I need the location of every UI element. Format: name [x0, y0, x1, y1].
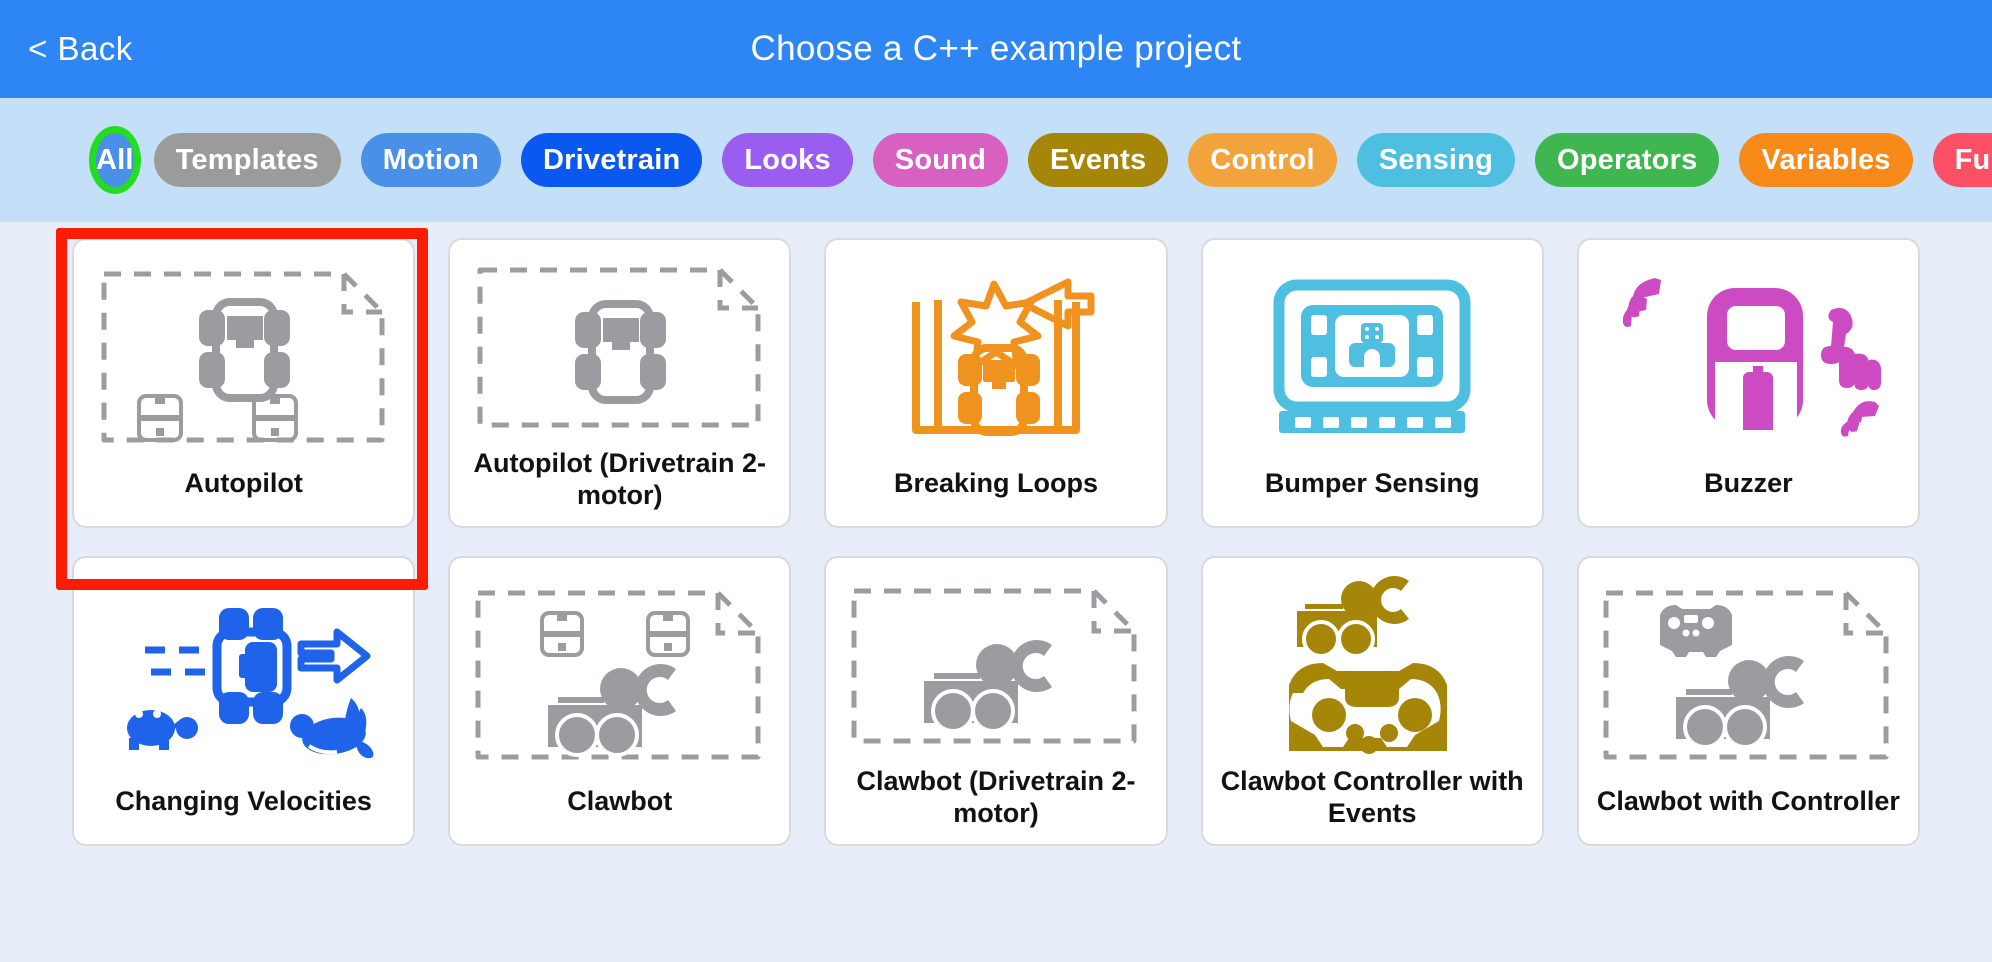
filter-pill-label: Events [1050, 144, 1146, 177]
filter-pill-label: Drivetrain [543, 144, 680, 177]
filter-pill-looks[interactable]: Looks [722, 133, 852, 187]
project-grid: Autopilot [72, 238, 1920, 846]
project-card-clawbot[interactable]: Clawbot [448, 556, 791, 846]
category-filter-bar: All Templates Motion Drivetrain Looks So… [0, 98, 1992, 222]
project-card-label: Autopilot [74, 468, 413, 526]
buzzer-icon [1579, 240, 1918, 468]
filter-pill-label: Templates [176, 144, 319, 177]
project-card-label: Changing Velocities [74, 786, 413, 844]
project-card-autopilot-drivetrain-2-motor[interactable]: Autopilot (Drivetrain 2-motor) [448, 238, 791, 528]
filter-pill-label: Variables [1761, 144, 1890, 177]
project-card-label: Buzzer [1579, 468, 1918, 526]
back-button[interactable]: < Back [18, 24, 143, 74]
filter-pill-motion[interactable]: Motion [361, 133, 501, 187]
project-card-clawbot-with-controller[interactable]: Clawbot with Controller [1577, 556, 1920, 846]
filter-pill-label: Functions [1955, 144, 1992, 177]
project-card-label: Autopilot (Drivetrain 2-motor) [450, 448, 789, 526]
header-bar: < Back Choose a C++ example project [0, 0, 1992, 98]
project-card-label: Clawbot (Drivetrain 2-motor) [826, 766, 1165, 844]
breaking-loops-icon [826, 240, 1165, 468]
project-card-autopilot[interactable]: Autopilot [72, 238, 415, 528]
filter-pill-functions[interactable]: Functions [1933, 133, 1992, 187]
filter-pill-templates[interactable]: Templates [154, 133, 341, 187]
clawbot-controller-events-icon [1203, 558, 1542, 766]
autopilot-template-icon [74, 240, 413, 468]
clawbot-template-icon [450, 558, 789, 786]
filter-pill-label: Control [1210, 144, 1315, 177]
project-card-changing-velocities[interactable]: Changing Velocities [72, 556, 415, 846]
clawbot-with-controller-icon [1579, 558, 1918, 786]
bumper-sensing-icon [1203, 240, 1542, 468]
project-card-label: Breaking Loops [826, 468, 1165, 526]
clawbot-2motor-template-icon [826, 558, 1165, 766]
filter-pill-drivetrain[interactable]: Drivetrain [521, 133, 702, 187]
filter-pill-label: Operators [1557, 144, 1697, 177]
filter-pill-label: All [96, 144, 134, 177]
project-card-label: Clawbot Controller with Events [1203, 766, 1542, 844]
filter-pill-operators[interactable]: Operators [1535, 133, 1719, 187]
filter-pill-label: Looks [744, 144, 830, 177]
project-card-label: Clawbot with Controller [1579, 786, 1918, 844]
filter-pill-all[interactable]: All [96, 133, 134, 187]
project-card-label: Clawbot [450, 786, 789, 844]
page-title: Choose a C++ example project [751, 29, 1242, 69]
filter-pill-label: Sensing [1379, 144, 1493, 177]
filter-pill-label: Sound [895, 144, 986, 177]
filter-pill-label: Motion [383, 144, 479, 177]
project-gallery: Autopilot [0, 222, 1992, 962]
filter-pill-sound[interactable]: Sound [873, 133, 1008, 187]
project-card-breaking-loops[interactable]: Breaking Loops [824, 238, 1167, 528]
example-project-chooser: < Back Choose a C++ example project All … [0, 0, 1992, 962]
project-card-bumper-sensing[interactable]: Bumper Sensing [1201, 238, 1544, 528]
filter-pill-events[interactable]: Events [1028, 133, 1168, 187]
autopilot-2motor-template-icon [450, 240, 789, 448]
filter-pill-control[interactable]: Control [1188, 133, 1337, 187]
project-card-label: Bumper Sensing [1203, 468, 1542, 526]
filter-pill-variables[interactable]: Variables [1739, 133, 1912, 187]
project-card-buzzer[interactable]: Buzzer [1577, 238, 1920, 528]
project-card-clawbot-drivetrain-2-motor[interactable]: Clawbot (Drivetrain 2-motor) [824, 556, 1167, 846]
changing-velocities-icon [74, 558, 413, 786]
project-card-clawbot-controller-with-events[interactable]: Clawbot Controller with Events [1201, 556, 1544, 846]
filter-pill-sensing[interactable]: Sensing [1357, 133, 1515, 187]
